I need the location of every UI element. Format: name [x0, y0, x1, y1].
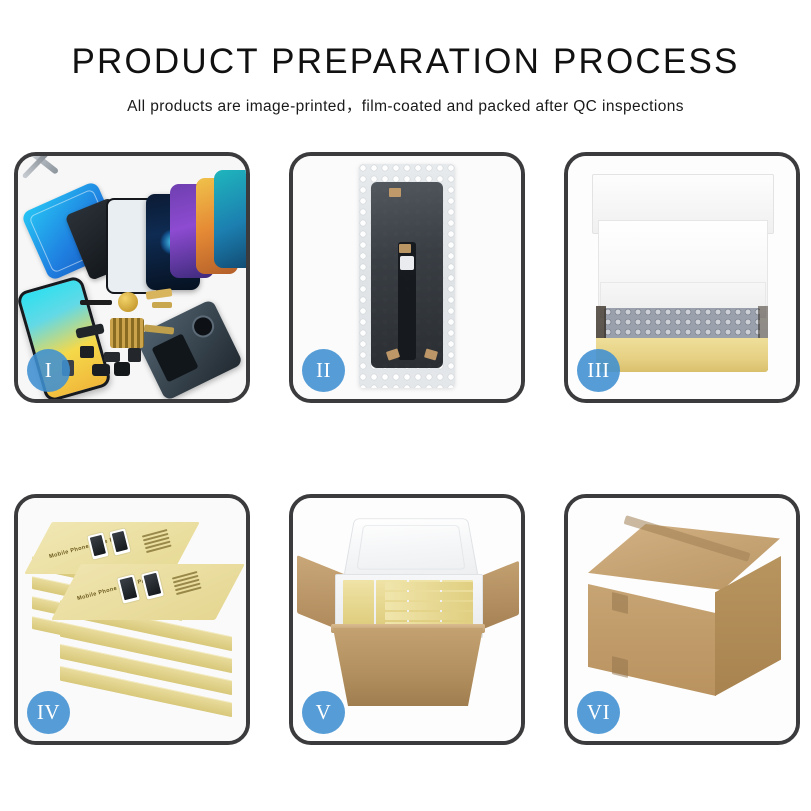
- small-part-1: [80, 346, 94, 358]
- carton-tape-patch-2: [612, 656, 628, 678]
- page-subtitle: All products are image-printed，film-coat…: [0, 94, 811, 116]
- small-part-2: [104, 352, 120, 362]
- step-badge-4: IV: [27, 691, 70, 734]
- mesh-component: [110, 318, 144, 348]
- header: PRODUCT PREPARATION PROCESS All products…: [0, 0, 811, 116]
- teal-phone-display: [214, 170, 246, 268]
- bubble-wrapped-contents: [604, 308, 760, 342]
- step-badge-2: II: [302, 349, 345, 392]
- carton-tape-patch-1: [612, 592, 628, 614]
- yellow-box-front: [596, 338, 768, 372]
- bubble-wrap-sleeve: [359, 164, 455, 388]
- tape-piece-1: [389, 188, 401, 197]
- small-part-3: [128, 348, 141, 362]
- camera-module: [114, 362, 130, 376]
- flex-cable-2: [152, 302, 172, 308]
- product-preparation-infographic: PRODUCT PREPARATION PROCESS All products…: [0, 0, 811, 811]
- process-step-4: Mobile Phone Spare Parts Mobile Phone Sp…: [14, 494, 250, 745]
- page-title: PRODUCT PREPARATION PROCESS: [0, 44, 811, 81]
- process-step-1: I: [14, 152, 250, 403]
- step-badge-3: III: [577, 349, 620, 392]
- tape-piece-2: [399, 244, 411, 253]
- box-stack: Mobile Phone Spare Parts Mobile Phone Sp…: [30, 520, 238, 716]
- carton-front: [333, 628, 483, 706]
- process-step-2: II: [289, 152, 525, 403]
- process-step-6: VI: [564, 494, 800, 745]
- process-step-grid: I II: [14, 152, 797, 752]
- yellow-boxes-stacked: [385, 582, 473, 630]
- step-badge-1: I: [27, 349, 70, 392]
- process-step-3: III: [564, 152, 800, 403]
- foam-lid: [343, 518, 479, 579]
- lcd-connector: [400, 256, 414, 270]
- process-step-5: V: [289, 494, 525, 745]
- step-badge-5: V: [302, 691, 345, 734]
- small-part-5: [92, 364, 110, 376]
- speaker-component: [118, 292, 138, 312]
- earpiece-component: [80, 300, 112, 305]
- step-badge-6: VI: [577, 691, 620, 734]
